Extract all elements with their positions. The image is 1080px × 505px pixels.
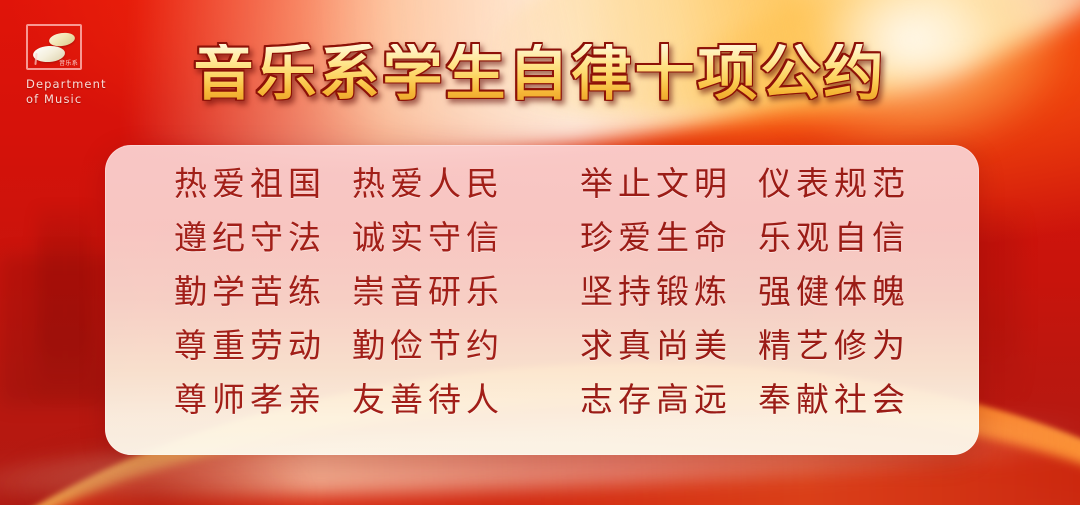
pledge-phrase: 崇音研乐 (352, 275, 504, 308)
pledge-phrase: 仪表规范 (758, 167, 910, 200)
pledge-row: 遵纪守法 诚实守信 (174, 221, 504, 275)
pledge-phrase: 尊师孝亲 (174, 383, 326, 416)
pledge-phrase: 尊重劳动 (174, 329, 326, 362)
pledge-phrase: 勤学苦练 (174, 275, 326, 308)
pledge-panel: 热爱祖国 热爱人民 遵纪守法 诚实守信 勤学苦练 崇音研乐 尊重劳动 勤俭节约 … (105, 145, 979, 455)
pledge-phrase: 乐观自信 (758, 221, 910, 254)
pledge-row: 热爱祖国 热爱人民 (174, 167, 504, 221)
pledge-phrase: 志存高远 (580, 383, 732, 416)
pledge-phrase: 坚持锻炼 (580, 275, 732, 308)
pledge-phrase: 友善待人 (352, 383, 504, 416)
pledge-row: 坚持锻炼 强健体魄 (580, 275, 910, 329)
pledge-phrase: 勤俭节约 (352, 329, 504, 362)
pledge-grid: 热爱祖国 热爱人民 遵纪守法 诚实守信 勤学苦练 崇音研乐 尊重劳动 勤俭节约 … (174, 167, 910, 437)
poster-canvas: 音乐系 Department of Music 音乐系学生自律十项公约 热爱祖国… (0, 0, 1080, 505)
pledge-phrase: 遵纪守法 (174, 221, 326, 254)
pledge-phrase: 精艺修为 (758, 329, 910, 362)
pledge-row: 志存高远 奉献社会 (580, 383, 910, 437)
pledge-phrase: 举止文明 (580, 167, 732, 200)
pledge-phrase: 热爱祖国 (174, 167, 326, 200)
pledge-phrase: 珍爱生命 (580, 221, 732, 254)
pledge-row: 勤学苦练 崇音研乐 (174, 275, 504, 329)
pledge-row: 珍爱生命 乐观自信 (580, 221, 910, 275)
pledge-phrase: 热爱人民 (352, 167, 504, 200)
pledge-row: 尊师孝亲 友善待人 (174, 383, 504, 437)
poster-title: 音乐系学生自律十项公约 (0, 44, 1080, 104)
pledge-column-left: 热爱祖国 热爱人民 遵纪守法 诚实守信 勤学苦练 崇音研乐 尊重劳动 勤俭节约 … (174, 167, 504, 437)
pledge-row: 求真尚美 精艺修为 (580, 329, 910, 383)
pledge-phrase: 诚实守信 (352, 221, 504, 254)
pledge-column-right: 举止文明 仪表规范 珍爱生命 乐观自信 坚持锻炼 强健体魄 求真尚美 精艺修为 … (580, 167, 910, 437)
pledge-row: 尊重劳动 勤俭节约 (174, 329, 504, 383)
pledge-phrase: 奉献社会 (758, 383, 910, 416)
pledge-phrase: 强健体魄 (758, 275, 910, 308)
pledge-phrase: 求真尚美 (580, 329, 732, 362)
pledge-row: 举止文明 仪表规范 (580, 167, 910, 221)
